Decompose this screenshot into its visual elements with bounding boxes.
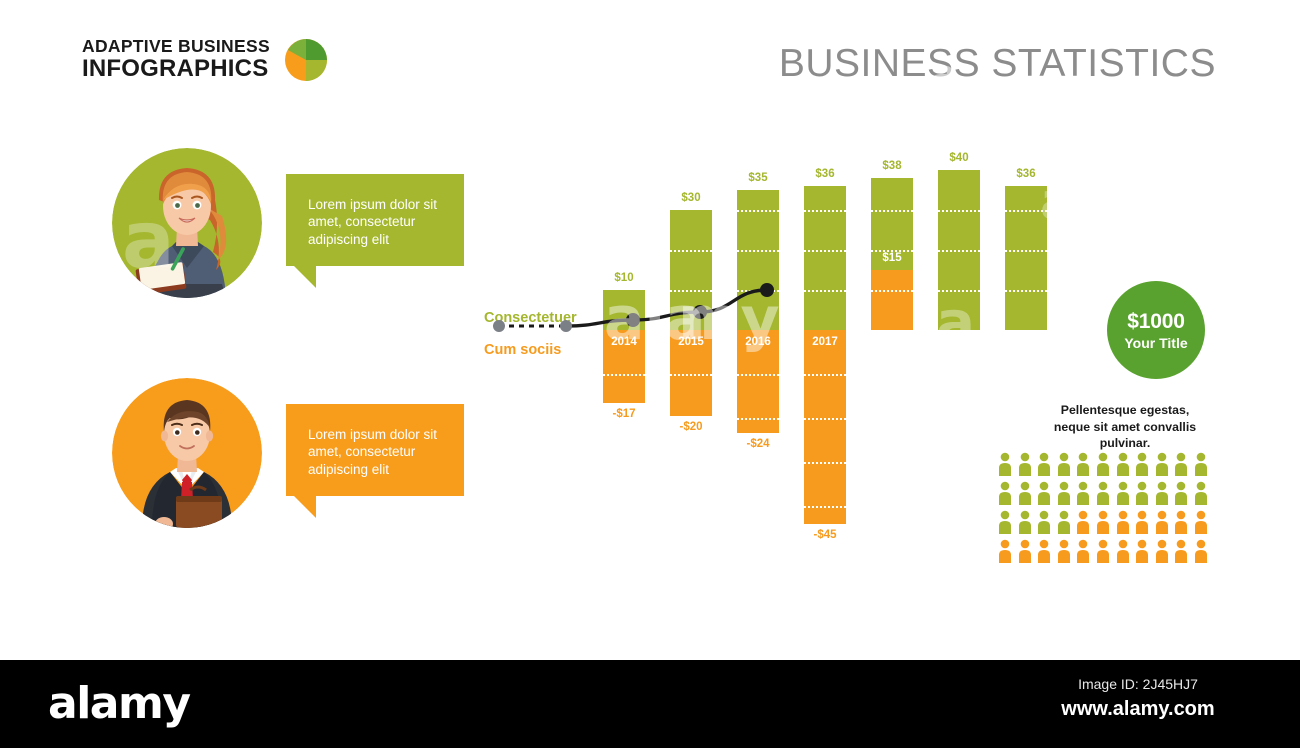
bar-top-label-2019: $40	[938, 152, 980, 164]
person-icon	[1135, 452, 1149, 476]
person-icon	[1174, 510, 1188, 534]
bar-positive-2017	[804, 186, 846, 330]
person-icon	[1174, 539, 1188, 563]
bar-year-label-2017: 2017	[804, 336, 846, 348]
bar-column-2017[interactable]: -$45$362017	[804, 130, 846, 570]
bar-top-label-2017: $36	[804, 168, 846, 180]
bar-mid-label-2018: $15	[871, 252, 913, 264]
person-icon	[1096, 452, 1110, 476]
bar-negative-2017	[804, 330, 846, 524]
person-icon	[1116, 481, 1130, 505]
person-icon	[1096, 481, 1110, 505]
bar-gridline	[871, 250, 913, 252]
person-icon	[1076, 510, 1090, 534]
brand-logo-text: ADAPTIVE BUSINESS INFOGRAPHICS	[82, 38, 270, 81]
bar-positive-2020	[1005, 186, 1047, 330]
person-icon	[1155, 481, 1169, 505]
person-icon	[1174, 481, 1188, 505]
person-icon	[1037, 452, 1051, 476]
alamy-url[interactable]: www.alamy.com	[1028, 698, 1248, 721]
businesswoman-avatar	[112, 148, 262, 298]
person-icon	[1037, 510, 1051, 534]
bar-gridline	[737, 374, 779, 376]
bar-top-label-2018: $38	[871, 160, 913, 172]
bar-positive-2014	[603, 290, 645, 330]
bar-column-2019[interactable]: $402019	[938, 130, 980, 570]
bar-positive-2015	[670, 210, 712, 330]
bar-bottom-label-2014: -$17	[603, 408, 645, 420]
bar-gridline	[938, 250, 980, 252]
bar-top-label-2014: $10	[603, 272, 645, 284]
person-icon	[1076, 452, 1090, 476]
bar-gridline	[938, 290, 980, 292]
person-icon	[1155, 510, 1169, 534]
kpi-circle: $1000 Your Title	[1107, 281, 1205, 379]
bar-gridline	[737, 418, 779, 420]
person-icon	[998, 539, 1012, 563]
person-icon	[1076, 539, 1090, 563]
person-icon	[1018, 481, 1032, 505]
bar-top-label-2015: $30	[670, 192, 712, 204]
person-icon	[1018, 539, 1032, 563]
person-icon	[1057, 452, 1071, 476]
pictogram-row-3	[998, 510, 1220, 534]
bar-year-label-2018: 2018	[871, 336, 913, 348]
person-icon	[1116, 539, 1130, 563]
chart-legend-consectetuer[interactable]: Consectetuer	[484, 310, 577, 326]
bar-gridline	[804, 210, 846, 212]
pictogram-row-2	[998, 481, 1220, 505]
person-icon	[998, 510, 1012, 534]
person-icon	[1018, 452, 1032, 476]
chart-legend-cum-sociis[interactable]: Cum sociis	[484, 342, 561, 358]
person-icon	[1174, 452, 1188, 476]
alamy-footer-bar: alamy Image ID: 2J45HJ7 www.alamy.com	[0, 660, 1300, 748]
bar-chart: Consectetuer Cum sociis -$17$102014-$20$…	[470, 130, 1070, 570]
bar-gridline	[603, 374, 645, 376]
person-icon	[1135, 510, 1149, 534]
slide-canvas: ADAPTIVE BUSINESS INFOGRAPHICS BUSINESS …	[0, 0, 1300, 660]
bar-gridline	[804, 290, 846, 292]
person-icon	[1057, 510, 1071, 534]
speech-bubble-2-text: Lorem ipsum dolor sit amet, consectetur …	[308, 427, 437, 477]
bar-column-2016[interactable]: -$24$352016	[737, 130, 779, 570]
person-icon	[1194, 539, 1208, 563]
kpi-caption-line1: Pellentesque egestas,	[1035, 402, 1215, 419]
pie-chart-logo-icon	[284, 38, 328, 82]
pictogram-row-1	[998, 452, 1220, 476]
brand-logo-line1: ADAPTIVE BUSINESS	[82, 38, 270, 56]
kpi-caption-line2: neque sit amet convallis pulvinar.	[1035, 419, 1215, 452]
bar-gridline	[1005, 290, 1047, 292]
bar-bottom-label-2016: -$24	[737, 438, 779, 450]
person-icon	[1194, 510, 1208, 534]
kpi-value: $1000	[1127, 310, 1184, 334]
person-icon	[1037, 539, 1051, 563]
people-pictogram	[998, 452, 1220, 568]
brand-logo: ADAPTIVE BUSINESS INFOGRAPHICS	[82, 38, 328, 82]
bar-bottom-label-2017: -$45	[804, 529, 846, 541]
speech-bubble-2-tail	[294, 496, 316, 518]
bar-gridline	[871, 210, 913, 212]
person-icon	[1194, 481, 1208, 505]
bar-year-label-2019: 2019	[938, 336, 980, 348]
bar-gridline	[1005, 250, 1047, 252]
bar-gridline	[804, 374, 846, 376]
bar-top-label-2016: $35	[737, 172, 779, 184]
person-icon	[1076, 481, 1090, 505]
bar-gridline	[871, 290, 913, 292]
bar-gridline	[804, 506, 846, 508]
person-icon	[1194, 452, 1208, 476]
alamy-wordmark: alamy	[48, 678, 190, 729]
person-icon	[1057, 481, 1071, 505]
person-icon	[1096, 539, 1110, 563]
person-icon	[1155, 539, 1169, 563]
person-icon	[1135, 481, 1149, 505]
person-icon	[1135, 539, 1149, 563]
bar-column-2015[interactable]: -$20$302015	[670, 130, 712, 570]
kpi-caption: Pellentesque egestas, neque sit amet con…	[1035, 402, 1215, 452]
brand-logo-line2: INFOGRAPHICS	[82, 57, 270, 81]
businessman-avatar	[112, 378, 262, 528]
bar-gridline	[804, 418, 846, 420]
bar-gridline	[938, 210, 980, 212]
bar-gridline	[670, 290, 712, 292]
speech-bubble-1: Lorem ipsum dolor sit amet, consectetur …	[286, 174, 464, 266]
speech-bubble-2: Lorem ipsum dolor sit amet, consectetur …	[286, 404, 464, 496]
speech-bubble-1-tail	[294, 266, 316, 288]
pictogram-row-4	[998, 539, 1220, 563]
kpi-title: Your Title	[1124, 335, 1187, 351]
bar-year-label-2015: 2015	[670, 336, 712, 348]
page-title: BUSINESS STATISTICS	[779, 42, 1216, 86]
bar-gridline	[1005, 210, 1047, 212]
bar-gridline	[670, 374, 712, 376]
bar-gridline	[737, 210, 779, 212]
bar-year-label-2014: 2014	[603, 336, 645, 348]
person-icon	[1057, 539, 1071, 563]
bar-gridline	[737, 250, 779, 252]
bar-top-label-2020: $36	[1005, 168, 1047, 180]
person-icon	[1096, 510, 1110, 534]
speech-bubble-1-text: Lorem ipsum dolor sit amet, consectetur …	[308, 197, 437, 247]
bar-year-label-2020: 2020	[1005, 336, 1047, 348]
bar-column-2014[interactable]: -$17$102014	[603, 130, 645, 570]
bar-gridline	[804, 462, 846, 464]
person-icon	[1155, 452, 1169, 476]
person-icon	[1018, 510, 1032, 534]
person-icon	[998, 481, 1012, 505]
bar-gridline	[737, 290, 779, 292]
alamy-image-id: Image ID: 2J45HJ7	[1028, 676, 1248, 692]
bar-year-label-2016: 2016	[737, 336, 779, 348]
bar-gridline	[670, 250, 712, 252]
person-icon	[1116, 452, 1130, 476]
bar-gridline	[804, 250, 846, 252]
bar-inner-orange-2018	[871, 270, 913, 330]
person-icon	[1116, 510, 1130, 534]
bar-bottom-label-2015: -$20	[670, 421, 712, 433]
bar-column-2018[interactable]: $15$382018	[871, 130, 913, 570]
person-icon	[1037, 481, 1051, 505]
person-icon	[998, 452, 1012, 476]
